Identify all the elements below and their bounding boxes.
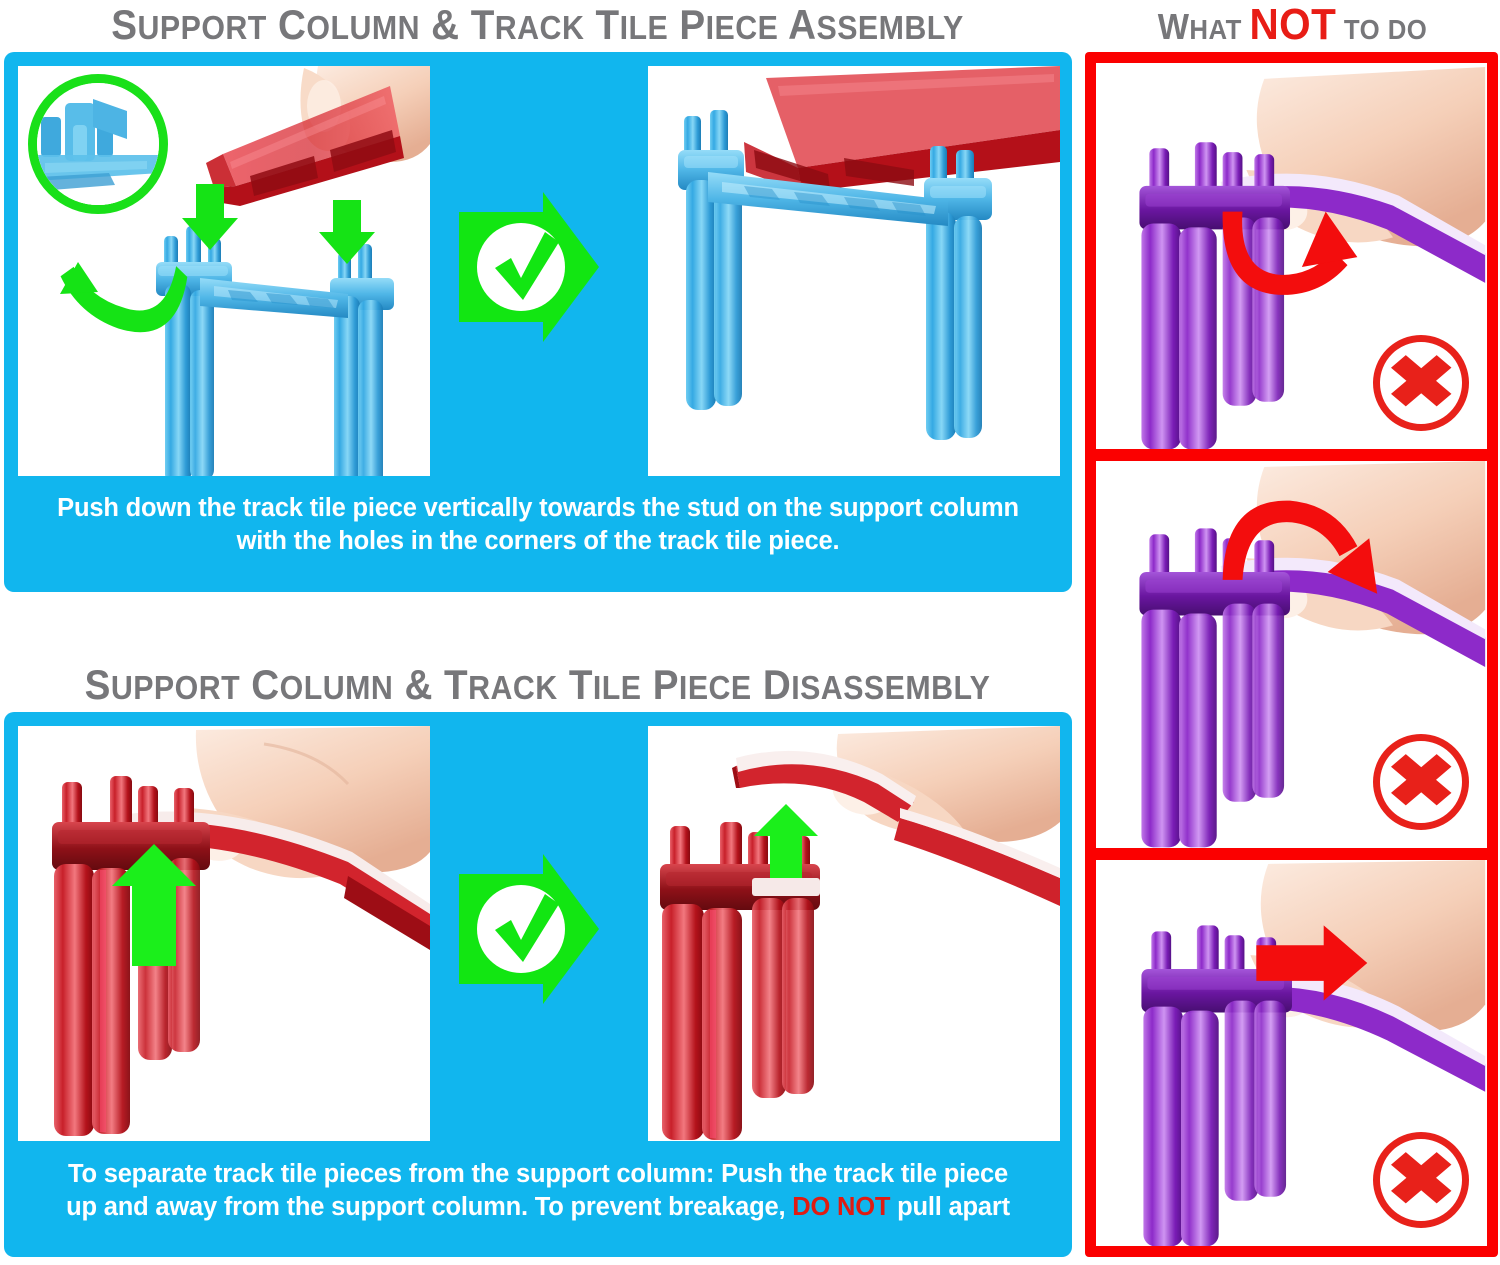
- assembly-photo-step1: [18, 66, 430, 476]
- x-badge-icon: ✖: [1373, 335, 1469, 431]
- page-title-disassembly: SUPPORT COLUMN & TRACK TILE PIECE DISASS…: [43, 662, 1032, 718]
- red-track-tile-piece-attached: [744, 66, 1060, 192]
- x-badge-icon: ✖: [1373, 734, 1469, 830]
- disassembly-caption-line2: up and away from the support column. To …: [20, 1191, 1056, 1224]
- not-to-do-panel-twist-down: ✖: [1096, 461, 1487, 847]
- green-check-arrow-icon-2: [459, 854, 599, 1004]
- purple-support-column: [1139, 142, 1290, 449]
- caption-text-b: pull apart: [890, 1193, 1010, 1221]
- disassembly-caption: To separate track tile pieces from the s…: [20, 1158, 1056, 1224]
- disassembly-section: To separate track tile pieces from the s…: [4, 712, 1072, 1257]
- not-emphasis: NOT: [1249, 0, 1336, 49]
- detail-zoom-circle: [28, 74, 168, 214]
- purple-support-column: [1139, 529, 1290, 848]
- assembly-caption-line1: Push down the track tile piece verticall…: [20, 492, 1056, 525]
- assembly-caption: Push down the track tile piece verticall…: [20, 492, 1056, 558]
- do-not-emphasis: DO NOT: [792, 1193, 890, 1221]
- disassembly-caption-line1: To separate track tile pieces from the s…: [20, 1158, 1056, 1191]
- instruction-sheet: SUPPORT COLUMN & TRACK TILE PIECE ASSEMB…: [0, 0, 1500, 1265]
- what-not-to-do-column: ✖: [1085, 52, 1498, 1257]
- disassembly-photo-step2: [648, 726, 1060, 1141]
- not-to-do-panel-pull-sideways: ✖: [1096, 860, 1487, 1246]
- blue-support-column: [156, 226, 394, 476]
- disassembly-photo-step1: [18, 726, 430, 1141]
- page-title-what-not-to-do: WHAT NOT TO DO: [1102, 2, 1484, 58]
- red-support-column: [52, 776, 210, 1136]
- caption-text-a: up and away from the support column. To …: [66, 1193, 792, 1221]
- assembly-caption-line2: with the holes in the corners of the tra…: [20, 525, 1056, 558]
- assembly-photo-step2: [648, 66, 1060, 476]
- x-badge-icon: ✖: [1373, 1132, 1469, 1228]
- not-to-do-panel-twist-up: ✖: [1096, 63, 1487, 449]
- green-check-arrow-icon: [459, 192, 599, 342]
- page-title-assembly: SUPPORT COLUMN & TRACK TILE PIECE ASSEMB…: [43, 2, 1032, 58]
- assembly-section: Push down the track tile piece verticall…: [4, 52, 1072, 592]
